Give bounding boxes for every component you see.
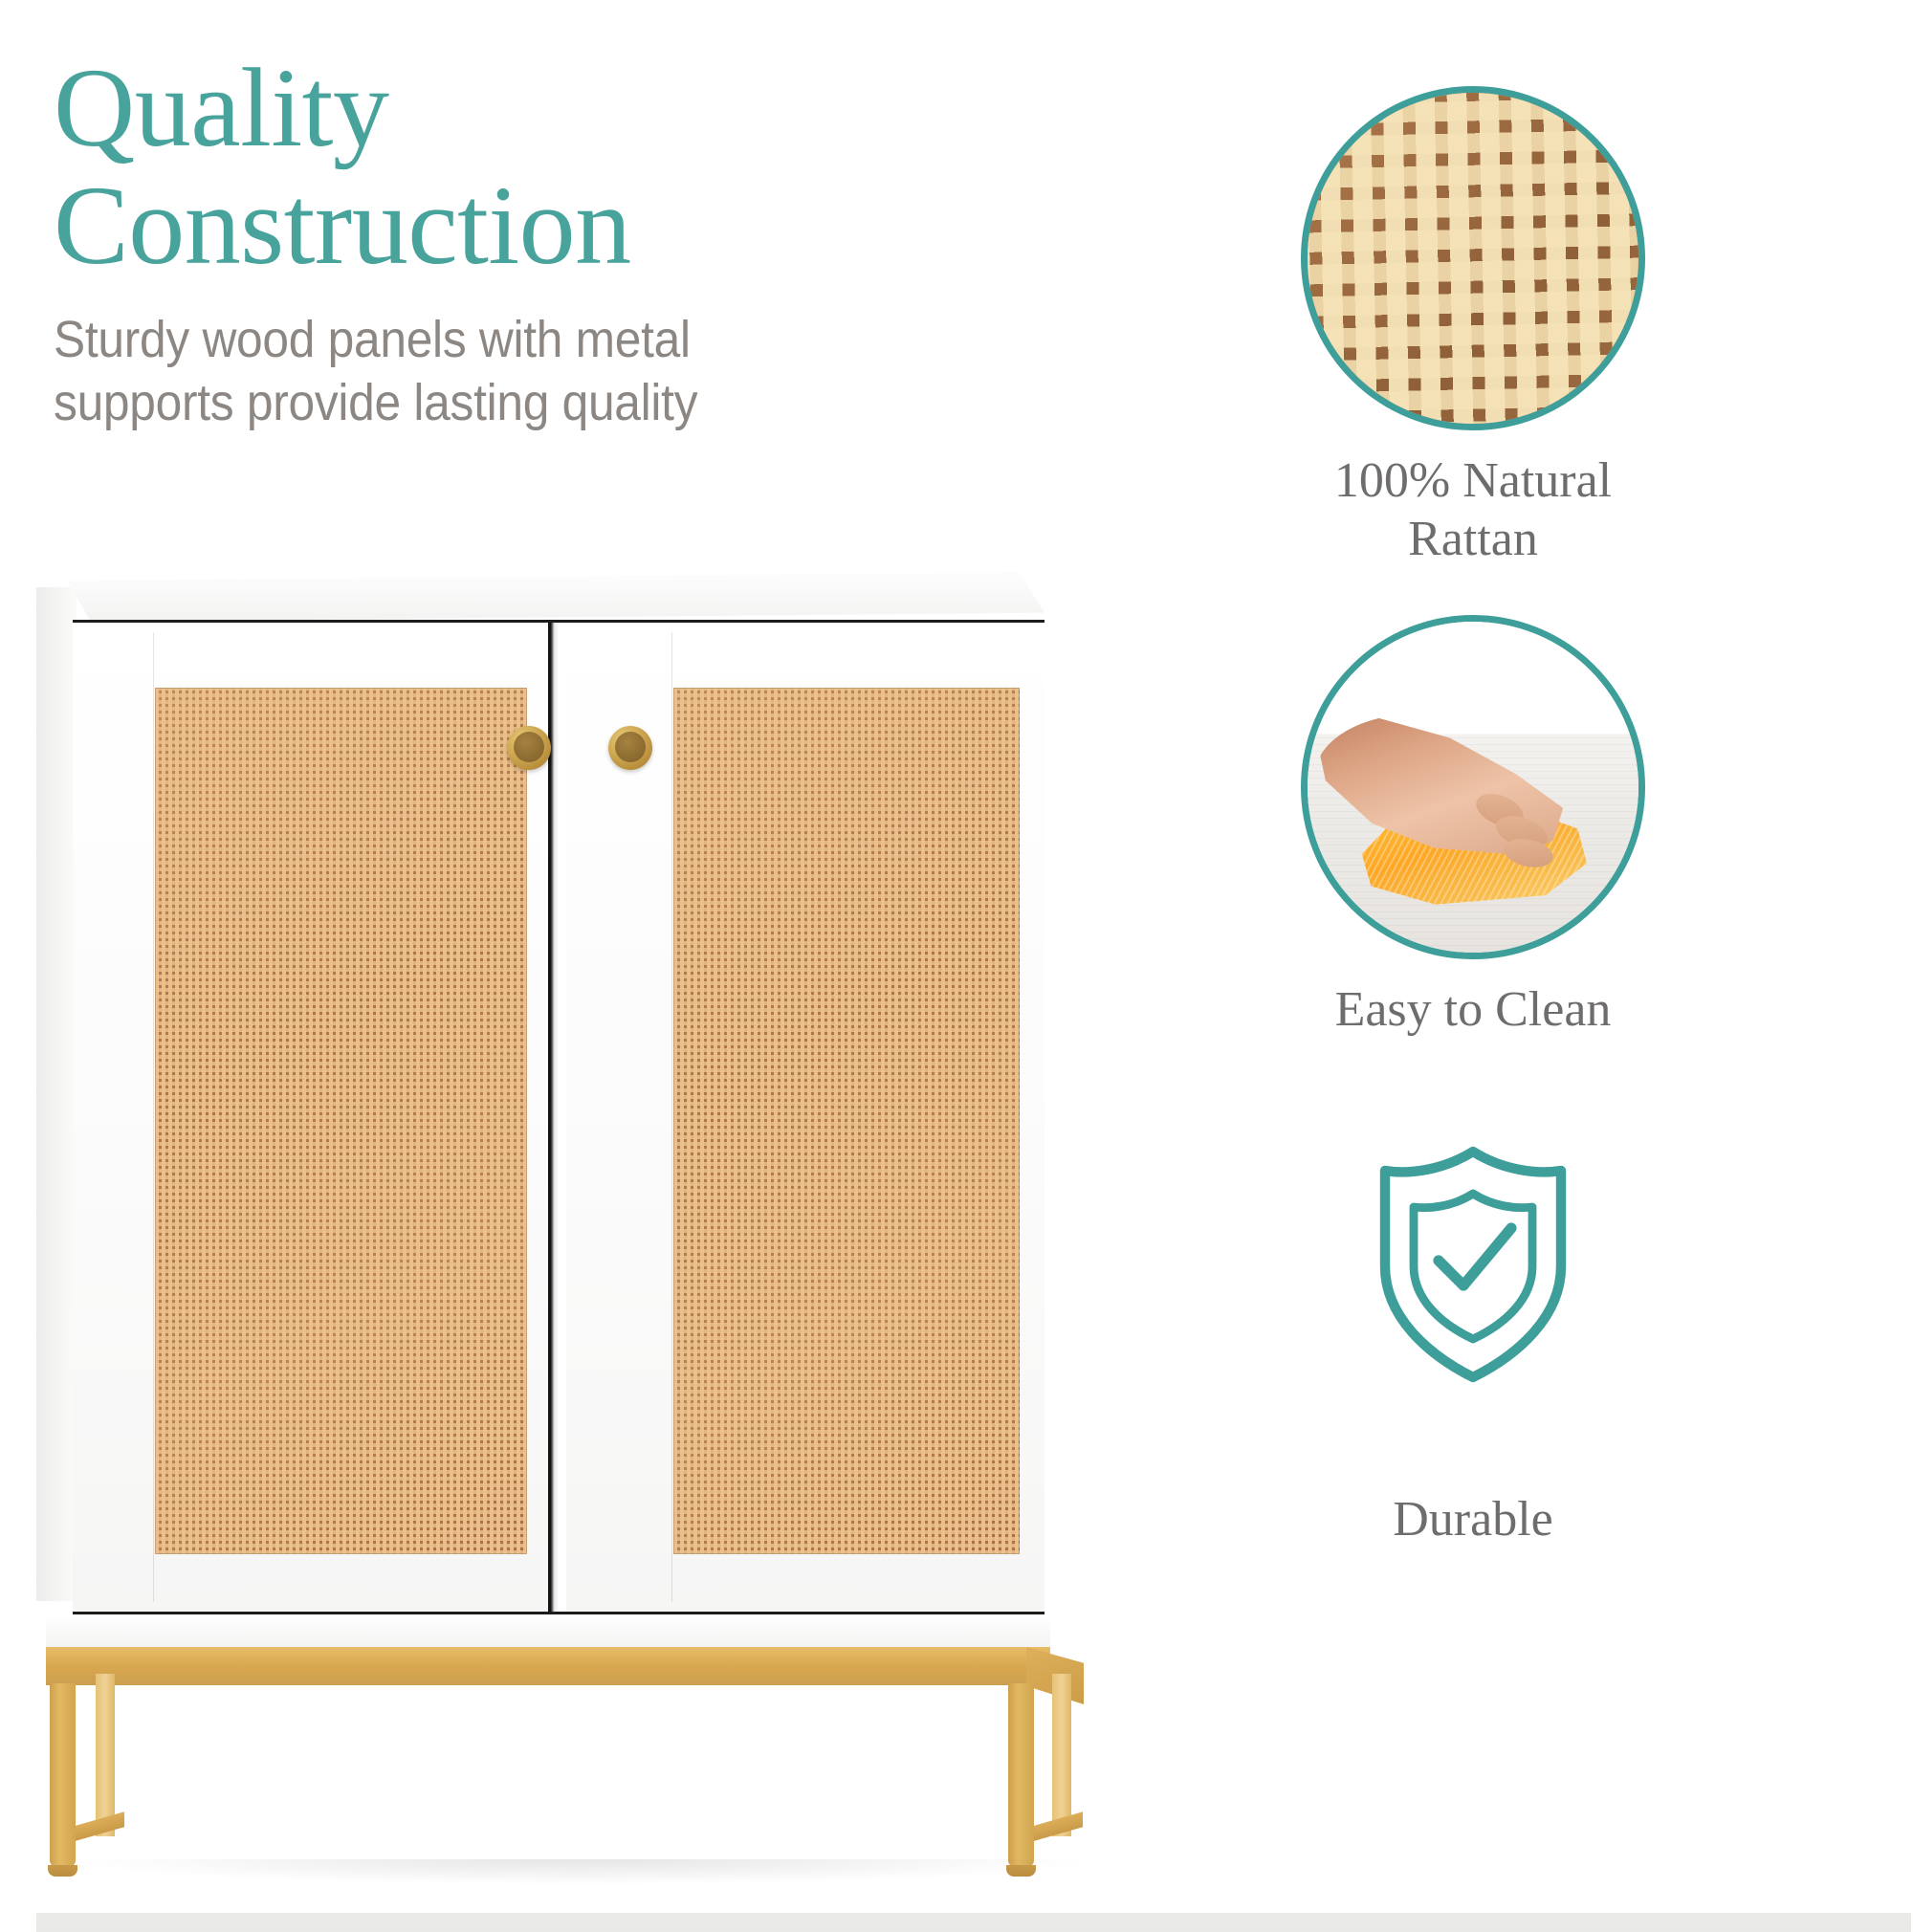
feature-durable: Durable [1081,1092,1865,1548]
cabinet-left-side-panel [36,587,77,1601]
feature-caption-line-2: Rattan [1408,512,1538,566]
cabinet-body [73,620,1044,1614]
feature-caption-line-1: 100% Natural [1334,453,1612,508]
page-subtitle-line-1: Sturdy wood panels with metal [54,309,934,372]
shield-icon-wrap [1301,1092,1645,1437]
feature-caption-line-1: Durable [1393,1492,1552,1547]
feature-caption-natural-rattan: 100% Natural Rattan [1186,451,1760,569]
door-left-inner-edge [153,632,154,1602]
gold-leg-back-right [1052,1674,1071,1836]
door-right-inner-edge [671,632,672,1602]
feature-easy-to-clean: Easy to Clean [1081,615,1865,1039]
door-knob-left[interactable] [507,726,551,770]
cabinet-door-left[interactable] [73,623,551,1612]
rattan-weave-texture [1301,86,1645,430]
feature-rail: 100% Natural Rattan Easy to Clean [1081,86,1865,1548]
feature-caption-easy-to-clean: Easy to Clean [1186,980,1760,1039]
product-image-cabinet [36,572,1069,1873]
feature-caption-durable: Durable [1186,1490,1760,1548]
rattan-panel-left [155,688,527,1554]
gold-base-front-rail [46,1647,1050,1685]
page-subtitle: Sturdy wood panels with metal supports p… [54,309,934,435]
page-title-line-1: Quality [54,50,1010,167]
rattan-panel-right [673,688,1020,1554]
page-title-line-2: Construction [54,167,1010,285]
headline-block: Quality Construction Sturdy wood panels … [54,50,1010,435]
gold-leg-back-left [96,1674,115,1836]
feature-caption-line-1: Easy to Clean [1335,982,1612,1037]
cabinet-top-surface [59,572,1044,622]
gold-leg-front-left [50,1683,76,1867]
shield-check-icon [1358,1140,1588,1389]
cabinet-door-right[interactable] [566,623,1044,1612]
gold-leg-front-right [1008,1683,1034,1867]
rattan-weave-photo [1301,86,1645,430]
floor-shadow [75,1859,1088,1884]
page-subtitle-line-2: supports provide lasting quality [54,372,934,435]
feature-natural-rattan: 100% Natural Rattan [1081,86,1865,569]
cleaning-photo [1301,615,1645,959]
door-center-gap [551,623,566,1612]
cabinet-bottom-plinth [46,1614,1050,1649]
door-knob-right[interactable] [608,726,652,770]
page-title: Quality Construction [54,50,1010,284]
